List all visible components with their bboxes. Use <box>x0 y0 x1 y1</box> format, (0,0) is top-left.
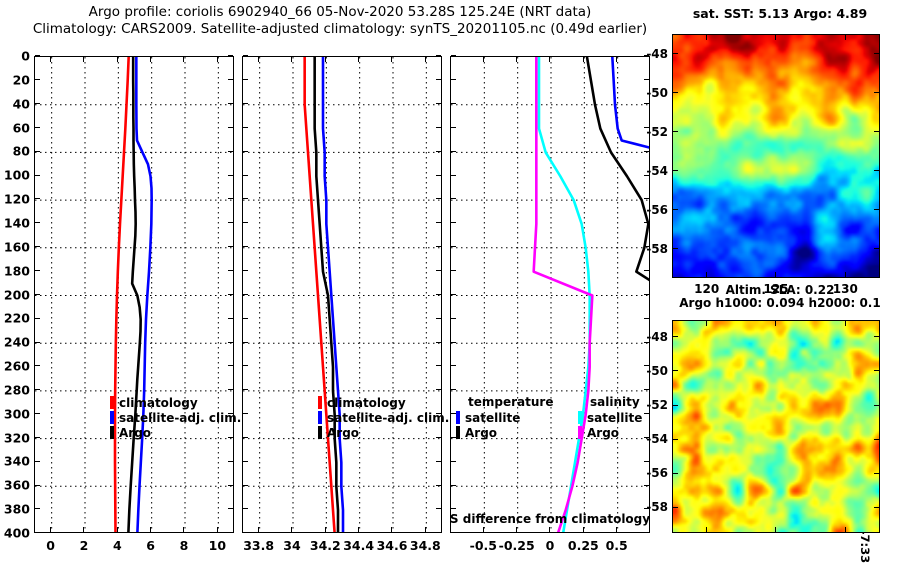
depth-label-11: 220 <box>2 311 30 326</box>
y-tick-right-1-6 <box>436 198 441 199</box>
x-tick-0-2 <box>117 527 118 532</box>
y-tick-1-18 <box>243 485 248 486</box>
y-tick-2-5 <box>451 175 456 176</box>
x-tick-1-3 <box>358 527 359 532</box>
legend-swatch-sal-satellite <box>578 411 582 424</box>
y-tick-1-20 <box>243 532 248 533</box>
map-y-tick-1-0 <box>673 336 678 337</box>
legend-row: satellite-adj. clim. <box>318 410 449 425</box>
y-tick-right-0-8 <box>228 246 233 247</box>
legend-label-argo: Argo <box>119 426 151 440</box>
y-tick-right-0-20 <box>228 532 233 533</box>
legend-swatch-sal-argo <box>578 426 582 439</box>
x-tick-top-1-3 <box>358 57 359 62</box>
legend-label-climatology-2: climatology <box>327 396 406 410</box>
y-tick-right-0-2 <box>228 103 233 104</box>
y-tick-right-1-4 <box>436 151 441 152</box>
salinity-panel-legend: climatologysatellite-adj. clim.Argo <box>318 395 449 440</box>
legend-row: Argo <box>456 425 553 440</box>
x-tick-top-0-0 <box>50 57 51 62</box>
x-tick-top-1-4 <box>391 57 392 62</box>
depth-label-10: 200 <box>2 287 30 302</box>
y-tick-1-11 <box>243 318 248 319</box>
y-tick-right-0-0 <box>228 55 233 56</box>
legend-swatch-temp-satellite <box>456 411 460 424</box>
y-tick-1-6 <box>243 198 248 199</box>
legend-label-argo-2: Argo <box>327 426 359 440</box>
y-tick-right-1-13 <box>436 365 441 366</box>
depth-label-9: 180 <box>2 263 30 278</box>
legend-row: Argo <box>318 425 449 440</box>
y-tick-right-0-19 <box>228 508 233 509</box>
y-tick-right-0-11 <box>228 318 233 319</box>
y-tick-right-0-13 <box>228 365 233 366</box>
x-tick-top-2-1 <box>516 57 517 62</box>
y-tick-0-7 <box>35 222 40 223</box>
map-y-tick-right-0-4 <box>874 209 879 210</box>
y-tick-2-2 <box>451 103 456 104</box>
map-y-label-1-3: -54 <box>636 432 668 446</box>
y-tick-right-1-11 <box>436 318 441 319</box>
y-tick-right-2-10 <box>644 294 649 295</box>
map-y-label-1-0: -48 <box>636 330 668 344</box>
map-y-label-0-1: -50 <box>636 86 668 100</box>
x-tick-top-1-5 <box>425 57 426 62</box>
map-y-tick-right-1-0 <box>874 336 879 337</box>
y-tick-2-20 <box>451 532 456 533</box>
map-y-tick-right-1-2 <box>874 405 879 406</box>
y-tick-right-2-6 <box>644 198 649 199</box>
y-tick-2-17 <box>451 461 456 462</box>
map-y-tick-1-5 <box>673 507 678 508</box>
depth-label-20: 400 <box>2 526 30 541</box>
map-y-tick-1-3 <box>673 439 678 440</box>
map-y-tick-0-2 <box>673 131 678 132</box>
y-tick-right-1-20 <box>436 532 441 533</box>
x-tick-label-2-2: 0 <box>546 538 555 553</box>
y-tick-0-0 <box>35 55 40 56</box>
map-y-tick-right-0-5 <box>874 248 879 249</box>
y-tick-2-1 <box>451 79 456 80</box>
y-tick-1-2 <box>243 103 248 104</box>
difference-xaxis-note: S difference from climatology <box>450 512 650 526</box>
x-tick-2-1 <box>516 527 517 532</box>
y-tick-right-2-7 <box>644 222 649 223</box>
sla-map-canvas[interactable] <box>673 321 879 532</box>
x-tick-label-1-0: 33.8 <box>243 538 274 553</box>
x-tick-top-0-1 <box>83 57 84 62</box>
difference-plot-svg <box>451 57 650 533</box>
y-tick-0-10 <box>35 294 40 295</box>
legend-title-temperature: temperature <box>456 395 553 410</box>
x-tick-top-2-2 <box>549 57 550 62</box>
legend-title-salinity: salinity <box>578 395 642 410</box>
y-tick-right-0-10 <box>228 294 233 295</box>
y-tick-right-0-9 <box>228 270 233 271</box>
y-tick-right-0-14 <box>228 389 233 390</box>
y-tick-2-4 <box>451 151 456 152</box>
depth-label-2: 40 <box>2 96 30 111</box>
depth-label-7: 140 <box>2 215 30 230</box>
legend-swatch-satellite-adj-2 <box>318 411 322 424</box>
y-tick-right-2-1 <box>644 79 649 80</box>
y-tick-1-3 <box>243 127 248 128</box>
salinity-plot-area <box>242 56 442 533</box>
depth-label-19: 380 <box>2 502 30 517</box>
x-tick-2-3 <box>583 527 584 532</box>
legend-label-satellite-adj-2: satellite-adj. clim. <box>327 411 449 425</box>
y-tick-1-15 <box>243 413 248 414</box>
y-tick-0-13 <box>35 365 40 366</box>
y-tick-2-13 <box>451 365 456 366</box>
chart-title-block: Argo profile: coriolis 6902940_66 05-Nov… <box>0 4 680 38</box>
map-y-tick-0-4 <box>673 209 678 210</box>
legend-swatch-argo <box>110 426 114 439</box>
map-x-tick-top-0-1 <box>775 35 776 40</box>
map-y-tick-right-0-1 <box>874 92 879 93</box>
legend-row: climatology <box>110 395 241 410</box>
y-tick-right-1-19 <box>436 508 441 509</box>
difference-panel-temperature-legend: temperaturesatelliteArgo <box>456 395 553 440</box>
map-y-label-0-0: -48 <box>636 47 668 61</box>
x-tick-2-2 <box>549 527 550 532</box>
map-x-label-0-1: 125 <box>763 282 788 296</box>
map-y-tick-right-1-5 <box>874 507 879 508</box>
map-y-tick-1-2 <box>673 405 678 406</box>
depth-label-16: 320 <box>2 430 30 445</box>
map-y-tick-1-4 <box>673 473 678 474</box>
temperature-plot-svg <box>35 57 234 533</box>
map-x-tick-top-0-2 <box>845 35 846 40</box>
legend-row: satellite-adj. clim. <box>110 410 241 425</box>
legend-row: Argo <box>110 425 241 440</box>
map-y-label-0-5: -58 <box>636 242 668 256</box>
legend-row: satellite <box>578 410 642 425</box>
sla-map[interactable] <box>672 320 880 533</box>
legend-label-temp-satellite: satellite <box>465 411 520 425</box>
y-tick-2-9 <box>451 270 456 271</box>
depth-label-14: 280 <box>2 382 30 397</box>
sst-map-canvas[interactable] <box>673 35 879 277</box>
x-tick-top-0-3 <box>150 57 151 62</box>
x-tick-1-4 <box>391 527 392 532</box>
y-tick-right-0-4 <box>228 151 233 152</box>
x-tick-label-1-1: 34 <box>283 538 300 553</box>
depth-label-15: 300 <box>2 406 30 421</box>
y-tick-0-2 <box>35 103 40 104</box>
sst-map[interactable] <box>672 34 880 278</box>
x-tick-0-3 <box>150 527 151 532</box>
legend-swatch-satellite-adj <box>110 411 114 424</box>
y-tick-1-19 <box>243 508 248 509</box>
legend-row: climatology <box>318 395 449 410</box>
x-tick-1-5 <box>425 527 426 532</box>
x-tick-0-4 <box>183 527 184 532</box>
x-tick-1-1 <box>291 527 292 532</box>
y-tick-right-2-18 <box>644 485 649 486</box>
y-tick-2-8 <box>451 246 456 247</box>
y-tick-1-14 <box>243 389 248 390</box>
x-tick-top-2-3 <box>583 57 584 62</box>
y-tick-right-0-5 <box>228 175 233 176</box>
x-tick-label-2-4: 0.5 <box>606 538 628 553</box>
map-y-label-1-5: -58 <box>636 500 668 514</box>
x-tick-label-2-3: 0.25 <box>568 538 599 553</box>
map-y-tick-right-1-3 <box>874 439 879 440</box>
y-tick-2-14 <box>451 389 456 390</box>
legend-label-temp-argo: Argo <box>465 426 497 440</box>
depth-label-12: 240 <box>2 335 30 350</box>
map-x-tick-0-0 <box>706 272 707 277</box>
y-tick-1-4 <box>243 151 248 152</box>
y-tick-1-17 <box>243 461 248 462</box>
map-x-tick-0-1 <box>775 272 776 277</box>
x-tick-label-0-5: 10 <box>209 538 226 553</box>
depth-label-18: 360 <box>2 478 30 493</box>
y-tick-2-18 <box>451 485 456 486</box>
y-tick-right-2-15 <box>644 413 649 414</box>
x-tick-label-0-0: 0 <box>46 538 55 553</box>
y-tick-2-12 <box>451 342 456 343</box>
x-tick-label-2-1: -0.25 <box>499 538 535 553</box>
y-tick-right-0-6 <box>228 198 233 199</box>
map-y-tick-right-0-3 <box>874 170 879 171</box>
y-tick-0-16 <box>35 437 40 438</box>
y-tick-2-7 <box>451 222 456 223</box>
y-tick-right-1-10 <box>436 294 441 295</box>
y-tick-right-2-17 <box>644 461 649 462</box>
y-tick-0-11 <box>35 318 40 319</box>
y-tick-2-19 <box>451 508 456 509</box>
title-line-1: Argo profile: coriolis 6902940_66 05-Nov… <box>0 4 680 21</box>
map-y-tick-right-1-1 <box>874 370 879 371</box>
map-y-label-0-3: -54 <box>636 164 668 178</box>
x-tick-top-1-2 <box>325 57 326 62</box>
map-x-tick-top-0-0 <box>706 35 707 40</box>
y-tick-0-3 <box>35 127 40 128</box>
y-tick-1-8 <box>243 246 248 247</box>
x-tick-top-2-4 <box>616 57 617 62</box>
y-tick-right-1-14 <box>436 389 441 390</box>
y-tick-1-9 <box>243 270 248 271</box>
x-tick-label-0-2: 4 <box>113 538 122 553</box>
depth-label-17: 340 <box>2 454 30 469</box>
y-tick-right-1-7 <box>436 222 441 223</box>
map-x-tick-top-1-2 <box>845 321 846 326</box>
y-tick-0-6 <box>35 198 40 199</box>
legend-swatch-climatology <box>110 396 114 409</box>
map-y-label-0-2: -52 <box>636 125 668 139</box>
y-tick-right-1-5 <box>436 175 441 176</box>
y-tick-right-0-1 <box>228 79 233 80</box>
y-tick-right-0-18 <box>228 485 233 486</box>
salinity-plot-svg <box>243 57 442 533</box>
y-tick-2-11 <box>451 318 456 319</box>
x-tick-2-4 <box>616 527 617 532</box>
x-tick-label-0-4: 8 <box>180 538 189 553</box>
y-tick-right-0-17 <box>228 461 233 462</box>
y-tick-right-0-3 <box>228 127 233 128</box>
y-tick-right-1-1 <box>436 79 441 80</box>
y-tick-0-8 <box>35 246 40 247</box>
y-tick-right-1-0 <box>436 55 441 56</box>
legend-swatch-argo-2 <box>318 426 322 439</box>
y-tick-right-1-12 <box>436 342 441 343</box>
legend-label-climatology: climatology <box>119 396 198 410</box>
legend-label-satellite-adj: satellite-adj. clim. <box>119 411 241 425</box>
map-y-label-1-1: -50 <box>636 364 668 378</box>
map-x-label-0-2: 130 <box>833 282 858 296</box>
x-tick-1-2 <box>325 527 326 532</box>
x-tick-label-1-3: 34.4 <box>343 538 374 553</box>
y-tick-right-0-7 <box>228 222 233 223</box>
y-tick-right-2-9 <box>644 270 649 271</box>
map-x-tick-top-1-0 <box>706 321 707 326</box>
x-tick-top-2-0 <box>483 57 484 62</box>
temperature-plot-area <box>34 56 234 533</box>
y-tick-1-12 <box>243 342 248 343</box>
y-tick-0-17 <box>35 461 40 462</box>
y-tick-1-7 <box>243 222 248 223</box>
x-tick-label-0-3: 6 <box>146 538 155 553</box>
title-line-2: Climatology: CARS2009. Satellite-adjuste… <box>0 21 680 38</box>
x-tick-top-1-0 <box>258 57 259 62</box>
depth-label-3: 60 <box>2 120 30 135</box>
map-y-label-1-4: -56 <box>636 466 668 480</box>
map-y-tick-right-0-0 <box>874 53 879 54</box>
x-tick-top-0-5 <box>217 57 218 62</box>
y-tick-0-15 <box>35 413 40 414</box>
y-tick-0-20 <box>35 532 40 533</box>
y-tick-right-1-8 <box>436 246 441 247</box>
x-tick-0-0 <box>50 527 51 532</box>
legend-row: satellite <box>456 410 553 425</box>
x-tick-0-1 <box>83 527 84 532</box>
y-tick-right-1-2 <box>436 103 441 104</box>
x-tick-top-1-1 <box>291 57 292 62</box>
x-tick-1-0 <box>258 527 259 532</box>
depth-label-6: 120 <box>2 192 30 207</box>
depth-label-5: 100 <box>2 168 30 183</box>
difference-panel-salinity-legend: salinitysatelliteArgo <box>578 395 642 440</box>
legend-row: Argo <box>578 425 642 440</box>
x-tick-label-0-1: 2 <box>80 538 89 553</box>
y-tick-2-6 <box>451 198 456 199</box>
y-tick-0-4 <box>35 151 40 152</box>
y-tick-right-1-17 <box>436 461 441 462</box>
y-tick-right-2-20 <box>644 532 649 533</box>
map-y-label-1-2: -52 <box>636 398 668 412</box>
y-tick-2-10 <box>451 294 456 295</box>
depth-label-0: 0 <box>2 49 30 64</box>
depth-label-8: 160 <box>2 239 30 254</box>
map-x-tick-1-1 <box>775 527 776 532</box>
map-y-tick-0-0 <box>673 53 678 54</box>
map-y-tick-1-1 <box>673 370 678 371</box>
y-tick-0-19 <box>35 508 40 509</box>
x-tick-0-5 <box>217 527 218 532</box>
legend-swatch-temp-argo <box>456 426 460 439</box>
legend-label-sal-satellite: satellite <box>587 411 642 425</box>
y-tick-right-1-18 <box>436 485 441 486</box>
y-tick-right-2-11 <box>644 318 649 319</box>
y-tick-right-2-14 <box>644 389 649 390</box>
y-tick-0-14 <box>35 389 40 390</box>
y-tick-right-0-12 <box>228 342 233 343</box>
legend-swatch-climatology-2 <box>318 396 322 409</box>
map-y-tick-0-5 <box>673 248 678 249</box>
map-y-label-0-4: -56 <box>636 203 668 217</box>
x-tick-2-0 <box>483 527 484 532</box>
x-tick-top-0-4 <box>183 57 184 62</box>
legend-label-sal-argo: Argo <box>587 426 619 440</box>
map-x-tick-1-0 <box>706 527 707 532</box>
y-tick-1-0 <box>243 55 248 56</box>
map-y-tick-right-1-4 <box>874 473 879 474</box>
y-tick-0-18 <box>35 485 40 486</box>
sst-summary-label: sat. SST: 5.13 Argo: 4.89 <box>660 6 900 21</box>
map-x-tick-1-2 <box>845 527 846 532</box>
y-tick-2-0 <box>451 55 456 56</box>
y-tick-right-1-3 <box>436 127 441 128</box>
x-tick-label-1-5: 34.8 <box>410 538 441 553</box>
y-tick-1-1 <box>243 79 248 80</box>
x-tick-label-1-4: 34.6 <box>377 538 408 553</box>
y-tick-0-9 <box>35 270 40 271</box>
y-tick-1-5 <box>243 175 248 176</box>
difference-plot-area <box>450 56 650 533</box>
depth-label-1: 20 <box>2 72 30 87</box>
y-tick-0-12 <box>35 342 40 343</box>
x-tick-label-1-2: 34.2 <box>310 538 341 553</box>
depth-label-13: 260 <box>2 359 30 374</box>
x-tick-top-0-2 <box>117 57 118 62</box>
argo-steric-height-label: Argo h1000: 0.094 h2000: 0.1 <box>660 297 900 310</box>
y-tick-right-2-2 <box>644 103 649 104</box>
map-x-label-0-0: 120 <box>694 282 719 296</box>
map-x-tick-top-1-1 <box>775 321 776 326</box>
x-tick-label-2-0: -0.5 <box>470 538 497 553</box>
y-tick-0-5 <box>35 175 40 176</box>
map-x-tick-0-2 <box>845 272 846 277</box>
temperature-panel-legend: climatologysatellite-adj. clim.Argo <box>110 395 241 440</box>
y-tick-right-2-4 <box>644 151 649 152</box>
y-tick-2-3 <box>451 127 456 128</box>
y-tick-1-10 <box>243 294 248 295</box>
depth-label-4: 80 <box>2 144 30 159</box>
map-y-tick-0-3 <box>673 170 678 171</box>
map-y-tick-right-0-2 <box>874 131 879 132</box>
y-tick-1-16 <box>243 437 248 438</box>
y-tick-0-1 <box>35 79 40 80</box>
y-tick-right-1-9 <box>436 270 441 271</box>
y-tick-1-13 <box>243 365 248 366</box>
map-y-tick-0-1 <box>673 92 678 93</box>
